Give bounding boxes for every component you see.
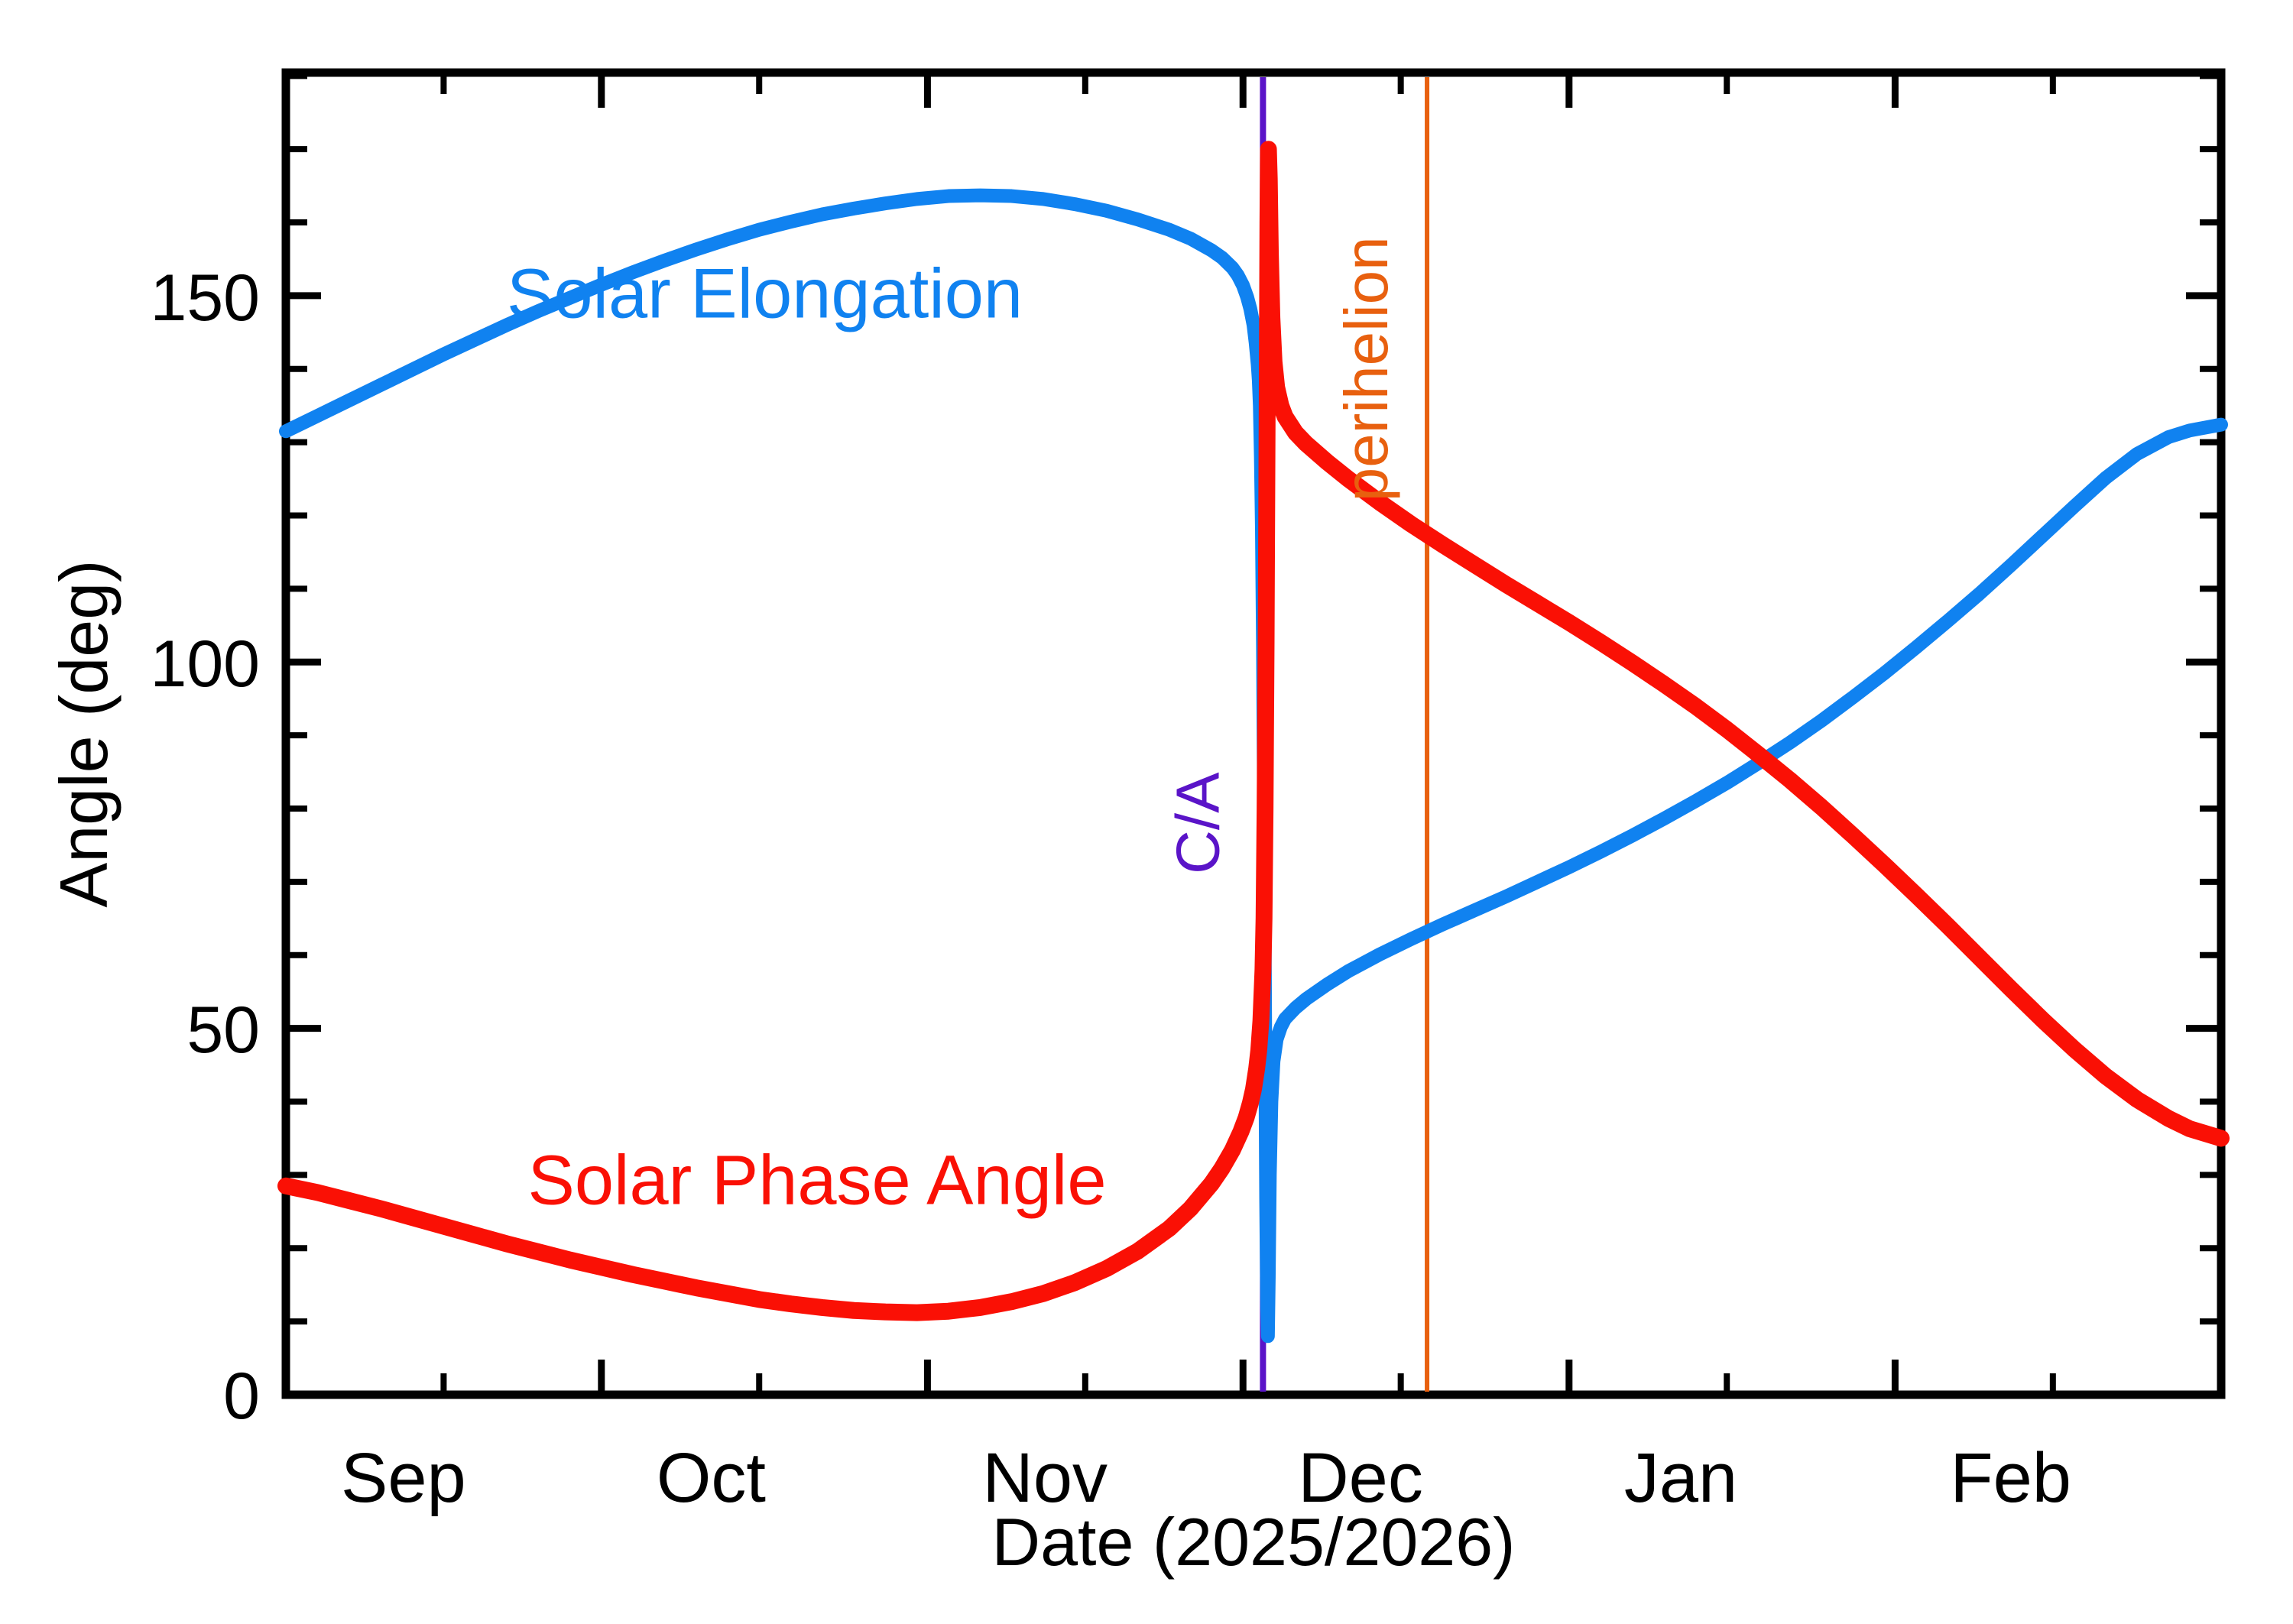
- y-tick-labels: 0 50 100 150: [151, 261, 261, 1433]
- series-label-solar-phase-angle: Solar Phase Angle: [528, 1142, 1107, 1220]
- x-tick-label-sep: Sep: [341, 1439, 466, 1517]
- chart-root: 0 50 100 150 Angle (deg) SepOctNovDecJan…: [0, 0, 2293, 1624]
- annotation-label-close-approach: C/A: [1163, 772, 1231, 874]
- solar-geometry-chart: 0 50 100 150 Angle (deg) SepOctNovDecJan…: [0, 0, 2293, 1624]
- x-tick-label-oct: Oct: [657, 1439, 766, 1517]
- x-tick-label-jan: Jan: [1624, 1439, 1737, 1517]
- x-tick-label-feb: Feb: [1950, 1439, 2071, 1517]
- x-axis-title: Date (2025/2026): [992, 1504, 1516, 1580]
- y-tick-label-0: 0: [223, 1360, 260, 1433]
- y-tick-label-50: 50: [186, 994, 260, 1067]
- y-axis-title: Angle (deg): [46, 560, 122, 908]
- y-tick-label-100: 100: [151, 627, 261, 701]
- y-tick-label-150: 150: [151, 261, 261, 335]
- series-label-solar-elongation: Solar Elongation: [507, 255, 1023, 333]
- annotation-label-perihelion: perihelion: [1332, 236, 1400, 501]
